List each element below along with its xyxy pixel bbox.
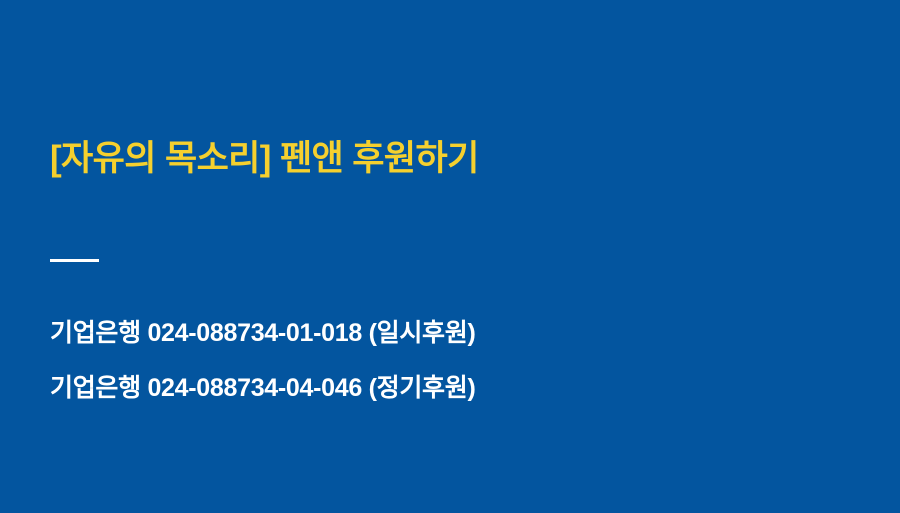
page-title: [자유의 목소리] 펜앤 후원하기	[50, 134, 479, 184]
list-item: 기업은행 024-088734-04-046 (정기후원)	[50, 361, 475, 416]
bank-account-list: 기업은행 024-088734-01-018 (일시후원) 기업은행 024-0…	[50, 306, 475, 416]
title-divider-rule	[50, 259, 99, 262]
donation-promo-banner: [자유의 목소리] 펜앤 후원하기 기업은행 024-088734-01-018…	[0, 0, 900, 513]
list-item: 기업은행 024-088734-01-018 (일시후원)	[50, 306, 475, 361]
